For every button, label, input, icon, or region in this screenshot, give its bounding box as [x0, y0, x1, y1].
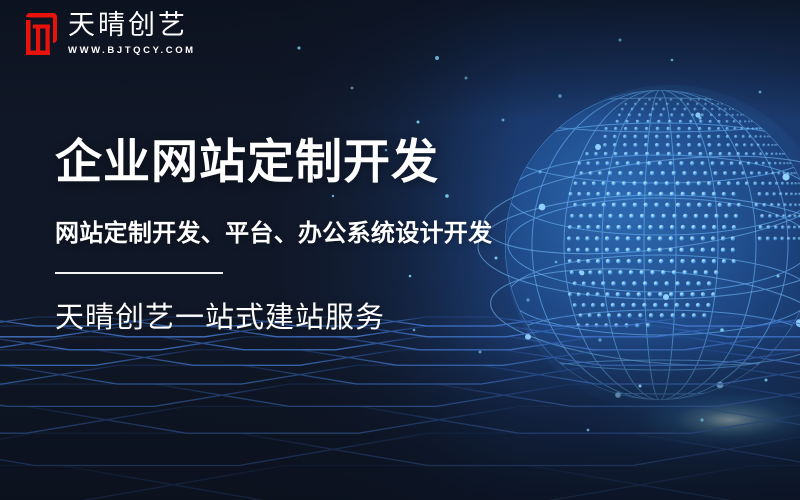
copy-block: 企业网站定制开发 网站定制开发、平台、办公系统设计开发 天晴创艺一站式建站服务: [55, 136, 492, 336]
headline: 企业网站定制开发: [55, 136, 492, 191]
logo-website-url: WWW.BJTQCY.COM: [68, 45, 196, 56]
tqcy-monogram-icon: [26, 13, 57, 55]
divider-rule: [55, 272, 223, 274]
logo-company-name: 天晴创艺: [68, 12, 196, 39]
perspective-hexagon-grid: [0, 315, 800, 500]
promo-banner: 天晴创艺 WWW.BJTQCY.COM 企业网站定制开发 网站定制开发、平台、办…: [0, 0, 800, 500]
subheadline: 网站定制开发、平台、办公系统设计开发: [55, 213, 492, 248]
brand-logo[interactable]: 天晴创艺 WWW.BJTQCY.COM: [26, 12, 196, 56]
tagline: 天晴创艺一站式建站服务: [55, 294, 492, 336]
